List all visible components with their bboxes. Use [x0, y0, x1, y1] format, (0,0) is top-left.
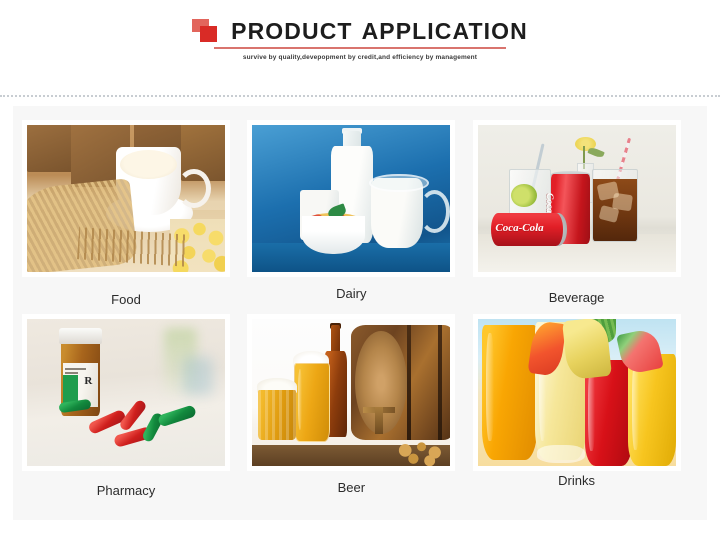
gallery-item-dairy[interactable]: Dairy — [247, 120, 472, 314]
cup-handle-icon — [177, 169, 211, 208]
grain-pile-icon — [395, 440, 446, 466]
barrel-tap-icon — [375, 407, 383, 433]
jug-handle-icon — [419, 190, 451, 233]
background-blur-blue — [183, 357, 213, 395]
cola-glass-icon — [592, 169, 638, 242]
cereal-bowl-icon — [302, 216, 365, 254]
green-capsule-icon — [157, 405, 196, 428]
page-header: PRODUCTAPPLICATION survive by quality,de… — [0, 0, 720, 96]
bottle-cap-icon — [59, 328, 103, 344]
image-card[interactable] — [473, 314, 681, 471]
gallery-grid: Food Dairy — [22, 120, 698, 508]
orange-juice-glass-icon — [482, 325, 537, 460]
beer-barrel-glasses-photo — [252, 319, 450, 466]
flower-leaf-icon — [588, 146, 605, 159]
label-text-line — [65, 368, 87, 370]
logo-block: PRODUCTAPPLICATION survive by quality,de… — [0, 18, 720, 61]
gallery-item-label: Dairy — [247, 286, 455, 301]
gallery-panel: Food Dairy — [13, 106, 707, 520]
coca-cola-wordmark: Coca-Cola — [495, 222, 543, 234]
logo-square-front-icon — [200, 26, 217, 42]
coca-cola-cans-photo: Coca-Cola Coca-Cola — [478, 125, 676, 272]
title-row: PRODUCTAPPLICATION — [192, 18, 528, 44]
gallery-item-pharmacy[interactable]: R Pharmacy — [22, 314, 247, 508]
prescription-symbol: R — [84, 375, 92, 387]
lime-slice-icon — [511, 184, 537, 208]
two-red-squares-logo-icon — [192, 19, 222, 43]
gallery-item-beverage[interactable]: Coca-Cola Coca-Cola Beverage — [473, 120, 698, 314]
beer-mug-icon — [258, 390, 296, 440]
barrel-hoop-icon — [438, 325, 442, 440]
image-card[interactable] — [247, 314, 455, 471]
gallery-item-label: Beverage — [473, 290, 681, 305]
pill-bottle-capsules-photo: R — [27, 319, 225, 466]
gallery-item-label: Drinks — [473, 473, 681, 488]
gallery-item-label: Food — [22, 292, 230, 307]
glass-highlight — [632, 361, 639, 450]
barrel-hoop-icon — [407, 325, 411, 440]
gallery-item-food[interactable]: Food — [22, 120, 247, 314]
drink-foam-icon — [537, 445, 585, 463]
image-card[interactable] — [22, 120, 230, 277]
image-card[interactable]: R — [22, 314, 230, 471]
jug-rim-icon — [369, 174, 428, 193]
pilsner-glass-icon — [294, 363, 330, 441]
cereal-bowl-wheat-photo — [27, 125, 225, 272]
title-underline-rule — [214, 47, 506, 49]
glass-highlight — [298, 369, 303, 430]
page-title-secondary: APPLICATION — [353, 18, 528, 44]
image-card[interactable] — [247, 120, 455, 277]
page-title-primary: PRODUCT — [231, 18, 352, 44]
gallery-item-label: Beer — [247, 480, 455, 495]
gallery-item-label: Pharmacy — [22, 483, 230, 498]
gallery-item-beer[interactable]: Beer — [247, 314, 472, 508]
glass-highlight — [486, 333, 494, 441]
label-text-line — [65, 372, 79, 374]
fruit-juice-glasses-photo — [478, 319, 676, 466]
image-card[interactable]: Coca-Cola Coca-Cola — [473, 120, 681, 277]
page-title: PRODUCTAPPLICATION — [231, 18, 528, 44]
page-subtitle: survive by quality,devepopment by credit… — [243, 54, 477, 61]
dotted-divider — [0, 95, 720, 98]
milk-bottle-jug-photo — [252, 125, 450, 272]
gallery-item-drinks[interactable]: Drinks — [473, 314, 698, 508]
glass-highlight — [588, 367, 595, 452]
burlap-sack-icon — [27, 125, 75, 172]
